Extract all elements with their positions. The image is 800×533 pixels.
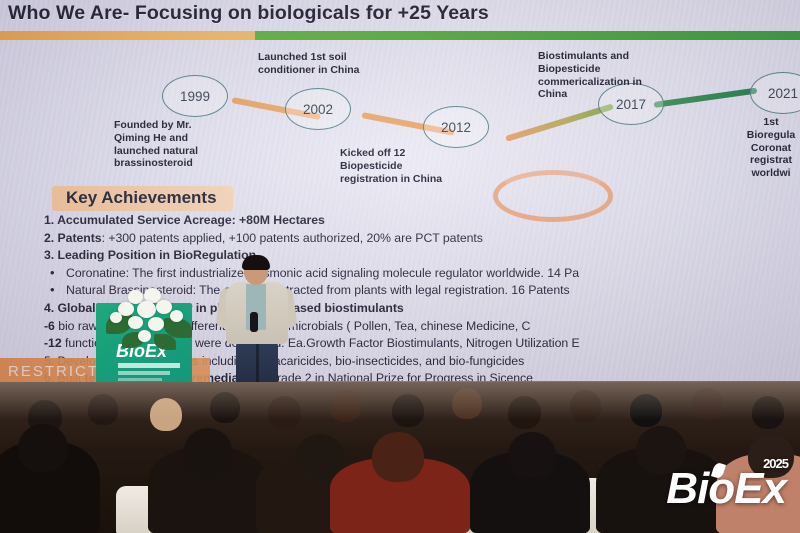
flower-arrangement <box>104 288 194 350</box>
microphone-icon <box>250 312 258 332</box>
bioex-logo-year: 2025 <box>763 457 788 470</box>
achievement-line: 3. Leading Position in BioRegulation <box>44 247 796 265</box>
achievement-line: Coronatine: The first industrialized jas… <box>44 265 796 283</box>
bioex-logo-wordmark: BioEx <box>666 464 786 513</box>
timeline-node-year: 2002 <box>303 102 333 117</box>
achievement-line: 1. Accumulated Service Acreage: +80M Hec… <box>44 212 796 230</box>
achievement-text: Coronatine: The first industrialized jas… <box>66 266 579 280</box>
speaker-hair <box>242 255 270 270</box>
achievement-line: 2. Patents: +300 patents applied, +100 p… <box>44 230 796 248</box>
bioex-logo-text: BioEx 2025 <box>666 467 786 511</box>
timeline-caption-1999: Founded by Mr. Qiming He and launched na… <box>114 119 244 170</box>
slide-title: Who We Are- Focusing on biologicals for … <box>8 2 648 25</box>
achievement-dash: -6 <box>44 319 55 333</box>
timeline-caption-2021: 1st Bioregula Coronat registrat worldwi <box>726 116 800 180</box>
achievement-bold: Patents <box>58 231 102 245</box>
achievement-number: 2. <box>44 231 54 245</box>
audience-head <box>184 428 232 474</box>
podium-subtitle-line <box>118 363 180 368</box>
timeline-node-year: 1999 <box>180 89 210 104</box>
achievement-text: extracted from plants with legal registr… <box>270 283 570 297</box>
timeline-node-2012: 2012 <box>423 106 489 148</box>
achievement-bold: Accumulated Service Acreage: +80M Hectar… <box>57 213 325 227</box>
timeline-node-2021: 2021 <box>750 72 800 114</box>
podium-subtitle-line <box>118 371 170 375</box>
timeline-caption-2012: Kicked off 12 Biopesticide registration … <box>340 147 510 185</box>
podium-subtitle-line <box>118 378 162 381</box>
top-rule-green-segment <box>255 31 800 40</box>
top-rule-orange-segment <box>0 31 255 40</box>
key-achievements-heading: Key Achievements <box>52 186 233 211</box>
speaker <box>214 258 300 393</box>
audience-head <box>372 432 424 482</box>
timeline-node-year: 2012 <box>441 120 471 135</box>
timeline-caption-2002: Launched 1st soil conditioner in China <box>258 51 428 77</box>
audience-head <box>508 432 556 478</box>
timeline-node-year: 2021 <box>768 86 798 101</box>
achievement-text: bio <box>55 319 75 333</box>
achievement-number: 3. <box>44 248 54 262</box>
audience-head <box>18 424 68 472</box>
slide-top-rule <box>0 31 800 40</box>
bioex-corner-logo: BioEx 2025 <box>666 467 786 511</box>
timeline: 1999 2002 2012 2017 2021 Founded by Mr. … <box>0 40 800 192</box>
achievement-dash: -12 <box>44 336 62 350</box>
stage-light-glow <box>0 382 800 420</box>
ribbon-2012-2017 <box>505 103 614 141</box>
achievement-text: : +300 patents applied, +100 patents aut… <box>102 231 483 245</box>
conference-photo: Who We Are- Focusing on biologicals for … <box>0 0 800 533</box>
timeline-node-1999: 1999 <box>162 75 228 117</box>
timeline-node-2002: 2002 <box>285 88 351 130</box>
timeline-caption-2017: Biostimulants and Biopesticide commerica… <box>538 50 718 101</box>
achievement-number: 4. <box>44 301 54 315</box>
achievement-number: 1. <box>44 213 54 227</box>
